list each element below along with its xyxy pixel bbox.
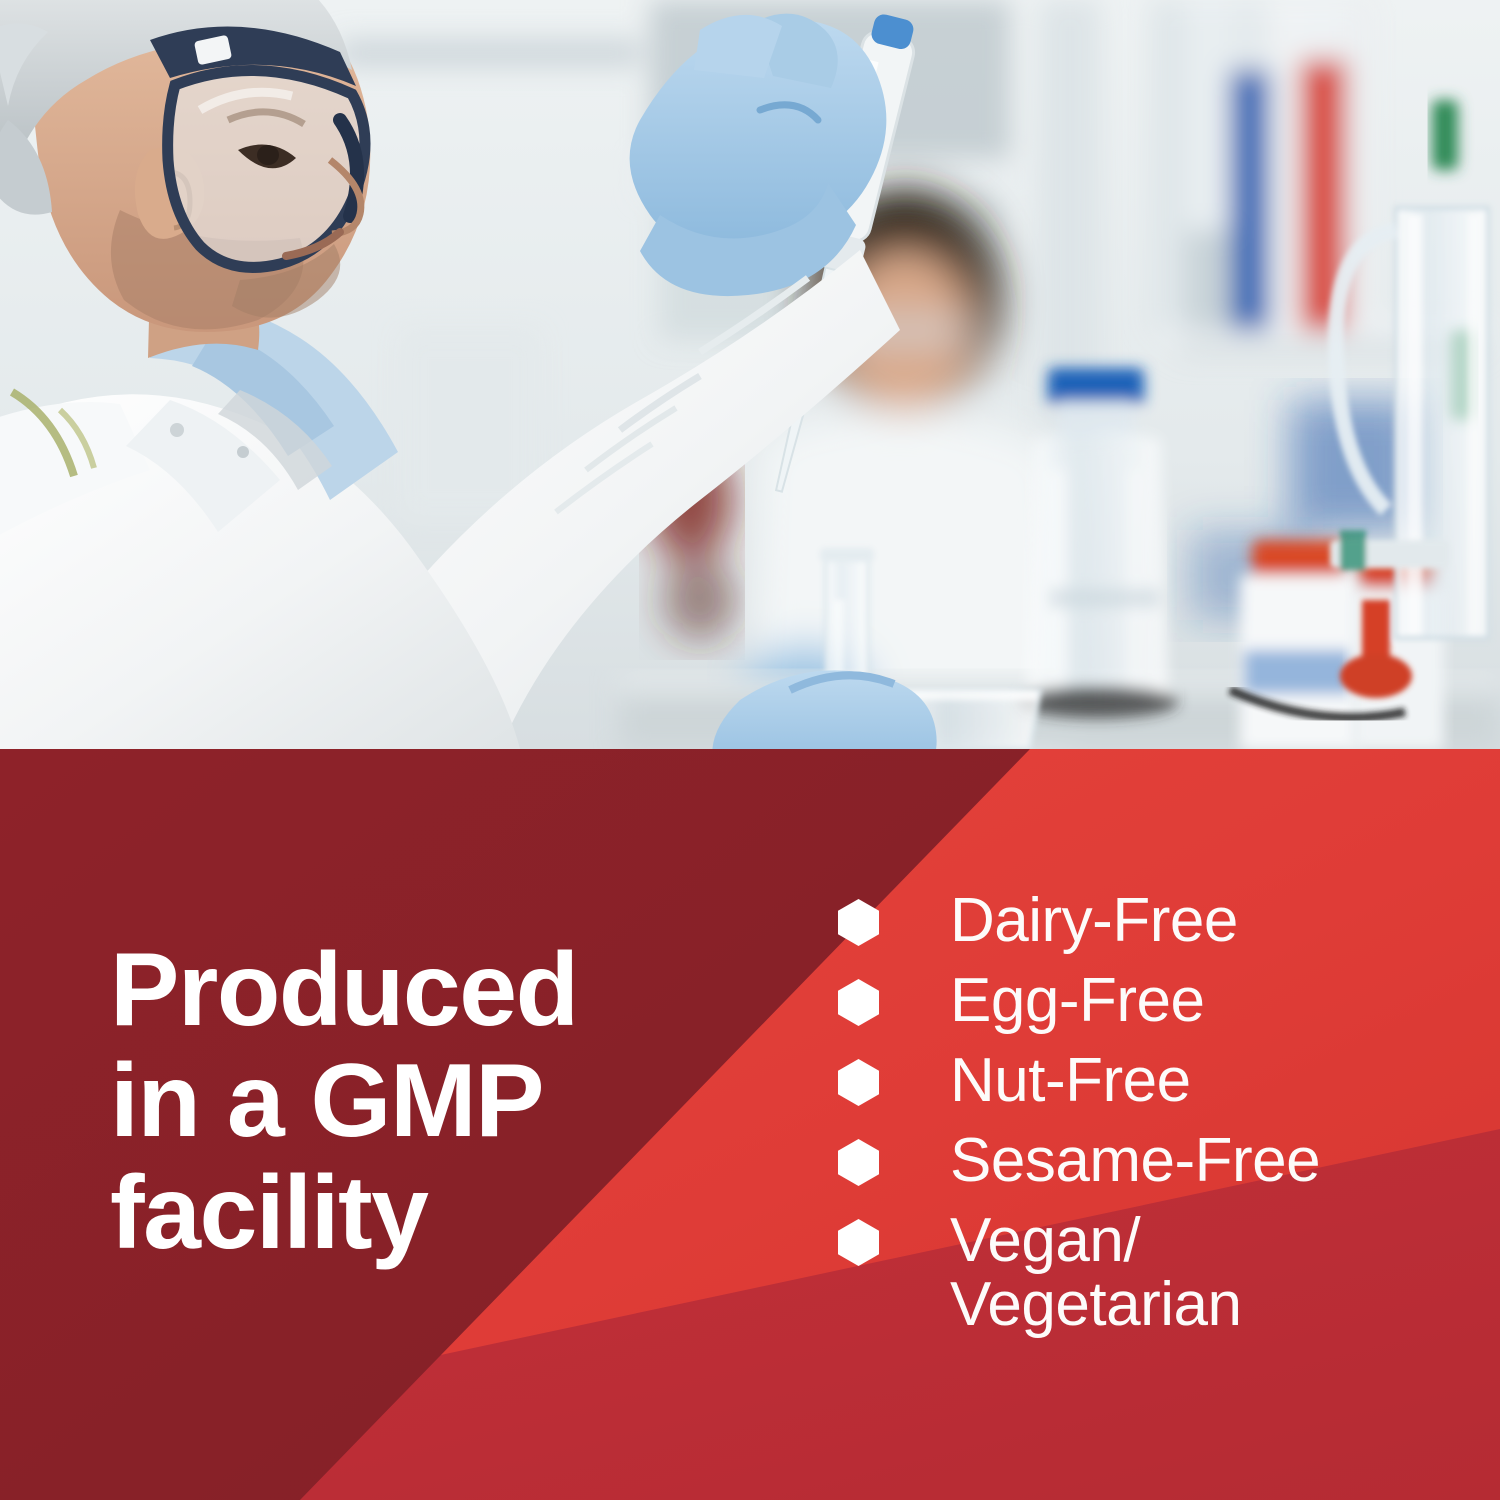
- list-item: Sesame-Free: [838, 1129, 1458, 1209]
- hexagon-bullet-icon: [838, 979, 879, 1026]
- list-item: Vegan/ Vegetarian: [838, 1209, 1458, 1337]
- hexagon-bullet-icon: [838, 1059, 879, 1106]
- list-item-label: Vegan/ Vegetarian: [950, 1209, 1241, 1337]
- hexagon-bullet-icon: [838, 1139, 879, 1186]
- hexagon-bullet-icon: [838, 1219, 879, 1266]
- infographic-banner: Produced in a GMP facility Dairy-Free Eg…: [0, 0, 1500, 1500]
- list-item: Nut-Free: [838, 1049, 1458, 1129]
- list-item-label: Dairy-Free: [950, 889, 1238, 953]
- list-item: Egg-Free: [838, 969, 1458, 1049]
- hexagon-bullet-icon: [838, 899, 879, 946]
- page-title: Produced in a GMP facility: [110, 935, 670, 1269]
- list-item: Dairy-Free: [838, 889, 1458, 969]
- list-item-label: Sesame-Free: [950, 1129, 1320, 1193]
- list-item-label: Nut-Free: [950, 1049, 1191, 1113]
- lab-photo-illustration: [0, 0, 1500, 749]
- list-item-label: Egg-Free: [950, 969, 1204, 1033]
- free-from-list: Dairy-Free Egg-Free Nut-Free Sesame-Free…: [838, 889, 1458, 1337]
- lab-photo: [0, 0, 1500, 749]
- red-feature-panel: Produced in a GMP facility Dairy-Free Eg…: [0, 749, 1500, 1500]
